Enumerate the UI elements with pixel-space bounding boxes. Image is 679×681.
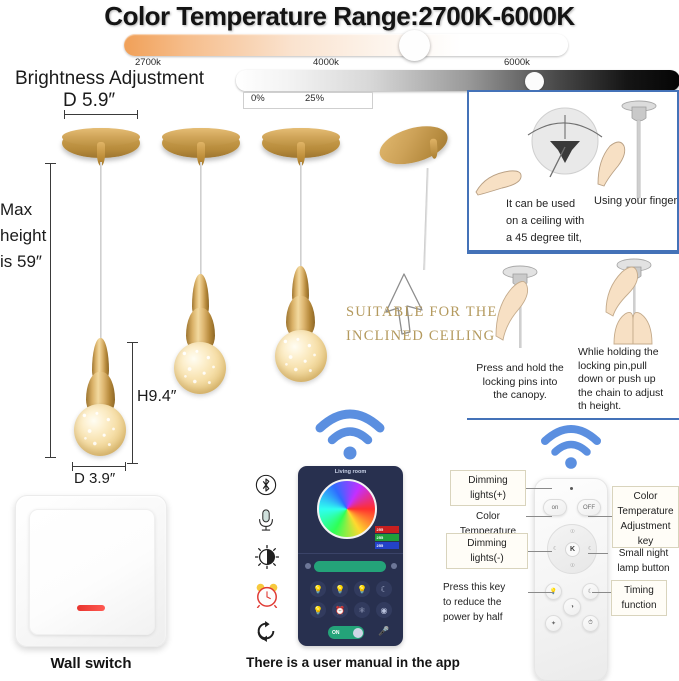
globe-height-line: [132, 342, 133, 464]
callout-night-lamp-line-1: Small night: [608, 546, 679, 561]
brightness-slider-handle[interactable]: [525, 72, 544, 91]
callout-dimming-minus-line-2: lights(-): [448, 551, 526, 566]
callout-timing-line-1: Timing: [613, 583, 665, 598]
callout-reduce-power-line-2: to reduce the: [443, 595, 531, 610]
install-caption-2-line-3: down or push up: [578, 373, 679, 387]
remote-button-timing[interactable]: ⏱: [582, 615, 599, 632]
divider-bottom: [467, 418, 679, 420]
app-slider-dot-left: [305, 563, 311, 569]
max-height-tick-top: [45, 163, 56, 164]
brightness-label-25: 25%: [305, 93, 324, 104]
brightness-slider[interactable]: [236, 70, 679, 91]
microphone-icon: [255, 508, 277, 532]
install-caption-1-line-2: locking pins into: [466, 376, 574, 390]
color-temperature-slider-handle[interactable]: [399, 30, 430, 61]
globe-diameter-tick-right: [125, 462, 126, 471]
app-slider-dot-right: [391, 563, 397, 569]
max-height-line-2: height: [0, 223, 48, 249]
callout-dimming-plus: Dimming lights(+): [450, 470, 526, 506]
brightness-label-0: 0%: [251, 93, 265, 104]
finger-left-icon: [472, 168, 524, 198]
cord-4: [423, 168, 428, 270]
app-timer-button[interactable]: ⏰: [332, 602, 348, 618]
leader-night-lamp: [588, 553, 608, 554]
canopy-3: [262, 128, 340, 158]
max-height-line: [50, 163, 51, 457]
callout-night-lamp: Small night lamp button: [608, 546, 679, 576]
remote-center-key-button[interactable]: K: [565, 542, 580, 557]
app-manual-caption: There is a user manual in the app: [228, 655, 478, 670]
remote-power-off-button[interactable]: OFF: [577, 499, 601, 516]
leader-color-temperature: [526, 516, 552, 517]
remote-dpad-down-icon[interactable]: ☉: [570, 563, 575, 569]
wifi-icon-remote: [540, 422, 602, 472]
tilt-caption-left-3: a 45 degree tilt,: [506, 230, 602, 247]
wifi-icon-phone: [314, 406, 386, 462]
max-height-line-3: is 59″: [0, 249, 48, 275]
max-height-tick-bottom: [45, 457, 56, 458]
callout-timing: Timing function: [611, 580, 667, 616]
globe-diameter-tick-left: [72, 462, 73, 471]
canopy-diameter-label: D 5.9″: [63, 90, 115, 112]
ct-label-min: 2700k: [135, 57, 161, 68]
cord-3: [300, 162, 302, 270]
phone-app-mockup[interactable]: Living room 255 255 255 💡 💡 💡 ☾ 💡 ⏰ ⚛ ◉ …: [298, 466, 403, 646]
app-power-toggle-label: ON: [332, 630, 340, 636]
rgb-value-red: 255: [375, 526, 399, 533]
tilt-caption-left: It can be used on a ceiling with a 45 de…: [506, 196, 602, 247]
callout-reduce-power-line-3: power by half: [443, 610, 531, 625]
tilt-caption-left-1: It can be used: [506, 196, 602, 213]
brightness-adjustment-heading: Brightness Adjustment: [15, 68, 204, 90]
remote-dpad-right-icon[interactable]: ☾: [588, 546, 593, 552]
cord-1: [100, 162, 102, 342]
app-power-toggle[interactable]: ON: [328, 626, 364, 639]
rgb-value-green: 255: [375, 534, 399, 541]
globe-height-tick-top: [127, 342, 138, 343]
sync-icon: [255, 620, 277, 643]
color-temperature-slider[interactable]: [124, 34, 568, 56]
remote-led-icon: [570, 487, 573, 490]
install-caption-adjust-height: Whlie holding the locking pin,pull down …: [578, 346, 679, 414]
callout-dimming-minus-line-1: Dimming: [448, 536, 526, 551]
leader-ct-key: [588, 516, 612, 517]
press-hold-illustration: [486, 262, 556, 357]
ct-label-mid: 4000k: [313, 57, 339, 68]
glass-globe-2: [174, 342, 226, 394]
remote-button-half-power[interactable]: ◑: [563, 598, 581, 616]
tilted-canopy-4: [375, 119, 454, 181]
callout-ct-adjustment-key: Color Temperature Adjustment key: [612, 486, 679, 548]
tilted-canopy-nipple: [430, 139, 438, 159]
wall-switch[interactable]: [15, 495, 167, 647]
app-screen-title: Living room: [298, 469, 403, 475]
install-caption-1-line-1: Press and hold the: [466, 362, 574, 376]
max-height-line-1: Max: [0, 197, 48, 223]
leader-timing: [592, 592, 611, 593]
canopy-diameter-line: [64, 114, 138, 115]
callout-dimming-plus-line-1: Dimming: [452, 473, 524, 488]
callout-ct-key-line-3: Adjustment: [614, 519, 677, 534]
ct-label-max: 6000k: [504, 57, 530, 68]
canopy-diameter-tick-left: [64, 110, 65, 119]
app-color-mode-button[interactable]: ⚛: [354, 602, 370, 618]
app-extra-button[interactable]: ◉: [376, 602, 392, 618]
callout-color-temperature-line-1: Color: [450, 509, 526, 524]
wall-switch-led-indicator: [77, 605, 105, 611]
divider-top: [467, 252, 679, 254]
app-scene-button-3[interactable]: 💡: [354, 581, 370, 597]
brightness-icon: [255, 545, 279, 569]
install-caption-2-line-4: the chain to adjust: [578, 387, 679, 401]
callout-night-lamp-line-2: lamp button: [608, 561, 679, 576]
rgb-value-blue: 255: [375, 542, 399, 549]
leader-dimming-plus: [526, 488, 552, 489]
callout-ct-key-line-1: Color: [614, 489, 677, 504]
globe-height-tick-bottom: [127, 463, 138, 464]
globe-height-label: H9.4″: [137, 388, 176, 406]
install-caption-2-line-5: th height.: [578, 400, 679, 414]
leader-dimming-minus: [528, 551, 552, 552]
globe-diameter-line: [72, 466, 126, 467]
install-caption-2-line-2: locking pin,pull: [578, 360, 679, 374]
page-title: Color Temperature Range:2700K-6000K: [0, 1, 679, 32]
app-night-mode-button[interactable]: ☾: [376, 581, 392, 597]
app-divider: [298, 553, 403, 554]
app-brightness-slider[interactable]: [314, 561, 386, 572]
callout-reduce-power-line-1: Press this key: [443, 580, 531, 595]
wall-switch-rocker[interactable]: [29, 509, 155, 635]
remote-dpad-up-icon[interactable]: ☉: [570, 529, 575, 535]
app-scene-button-4[interactable]: 💡: [310, 602, 326, 618]
remote-dpad-left-icon[interactable]: ☾: [553, 546, 558, 552]
tilt-caption-right: Using your finger: [594, 193, 679, 210]
max-height-label: Max height is 59″: [0, 197, 48, 275]
finger-right-icon: [592, 140, 630, 188]
globe-diameter-label: D 3.9″: [74, 470, 115, 487]
leader-reduce-power: [528, 592, 554, 593]
glass-globe-1: [74, 404, 126, 456]
remote-control[interactable]: on OFF ☉ ☉ ☾ ☾ K 💡 ☾ ◑ ✦ ⏱: [534, 478, 608, 681]
install-caption-2-line-1: Whlie holding the: [578, 346, 679, 360]
canopy-2: [162, 128, 240, 158]
callout-ct-key-line-2: Temperature: [614, 504, 677, 519]
tilt-caption-left-2: on a ceiling with: [506, 213, 602, 230]
product-infographic: Color Temperature Range:2700K-6000K 2700…: [0, 0, 679, 681]
glass-globe-3: [275, 330, 327, 382]
tilted-canopy-body: [375, 119, 452, 171]
wall-switch-label: Wall switch: [15, 655, 167, 672]
color-wheel-picker[interactable]: [317, 479, 377, 539]
app-scene-button-2[interactable]: 💡: [332, 581, 348, 597]
app-scene-button-1[interactable]: 💡: [310, 581, 326, 597]
install-caption-1-line-3: the canopy.: [466, 389, 574, 403]
alarm-clock-icon: [255, 583, 279, 608]
app-brightness-slider-row[interactable]: [303, 559, 398, 574]
adjust-height-illustration: [592, 256, 672, 348]
bluetooth-icon: [255, 474, 277, 496]
install-caption-press-hold: Press and hold the locking pins into the…: [466, 362, 574, 403]
canopy-1: [62, 128, 140, 158]
remote-power-on-button[interactable]: on: [543, 499, 567, 516]
cord-2: [200, 162, 202, 278]
app-power-toggle-knob: [353, 628, 363, 638]
callout-reduce-power: Press this key to reduce the power by ha…: [443, 580, 531, 625]
canopy-diameter-tick-right: [137, 110, 138, 119]
app-microphone-icon[interactable]: 🎤: [378, 626, 389, 637]
callout-timing-line-2: function: [613, 598, 665, 613]
callout-dimming-minus: Dimming lights(-): [446, 533, 528, 569]
callout-dimming-plus-line-2: lights(+): [452, 488, 524, 503]
remote-button-candle[interactable]: ✦: [545, 615, 562, 632]
